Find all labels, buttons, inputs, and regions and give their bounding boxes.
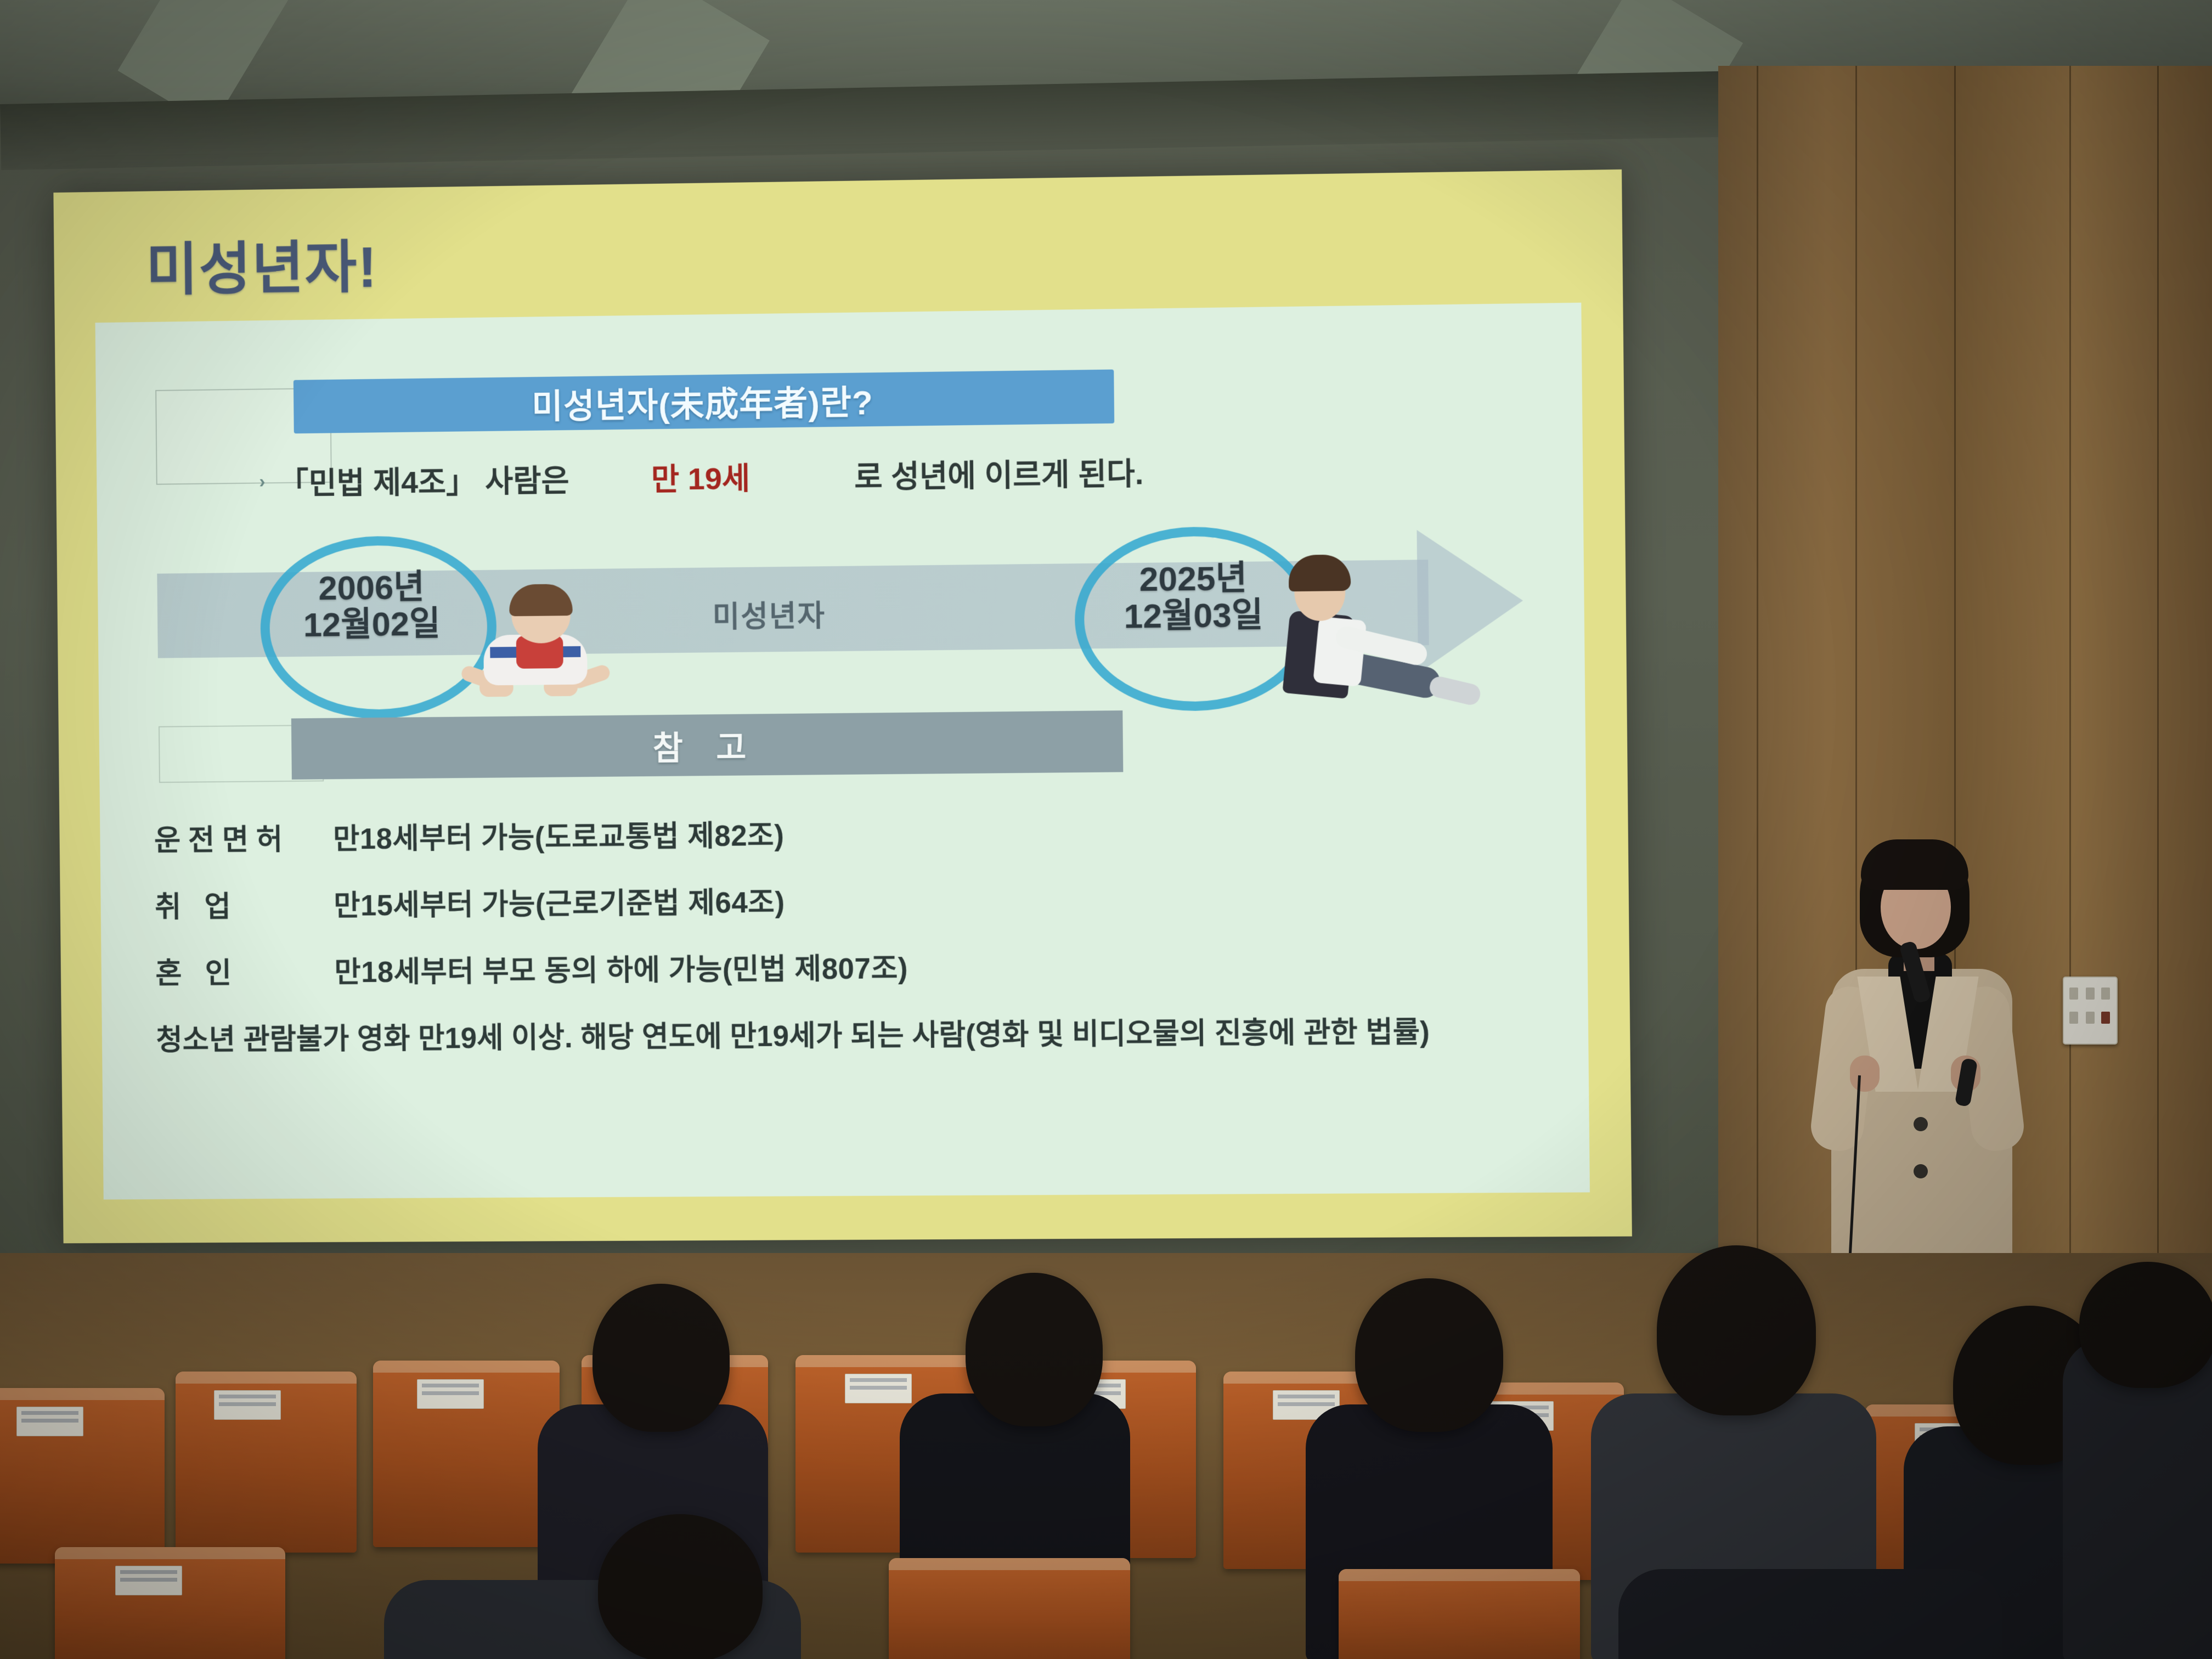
timeline-arrow-label: 미성년자: [712, 591, 826, 636]
bullet-icon: ›: [259, 471, 266, 492]
reference-row-key: 혼 인: [155, 950, 335, 992]
reference-row-value: 만18세부터 부모 동의 하에 가능(민법 제807조): [334, 940, 1560, 991]
reference-row-key: 운전면허: [154, 816, 334, 859]
seat: [373, 1361, 560, 1547]
reference-row: 취 업 만15세부터 가능(근로기준법 제64조): [155, 873, 1560, 926]
reference-list: 운전면허 만18세부터 가능(도로교통법 제82조) 취 업 만15세부터 가능…: [154, 806, 1561, 1059]
student-head: [1355, 1278, 1503, 1432]
slide-header-bar: 미성년자(未成年者)란?: [294, 369, 1114, 433]
student-body-front: [1618, 1569, 2002, 1659]
minor-age-timeline: 미성년자 2006년 12월02일 2025년: [157, 518, 1541, 698]
presenter-hand-left: [1850, 1056, 1880, 1092]
reference-row: 운전면허 만18세부터 가능(도로교통법 제82조): [154, 806, 1559, 860]
reference-row-value: 만18세부터 가능(도로교통법 제82조): [333, 806, 1559, 858]
reference-row-value: 만15세부터 가능(근로기준법 제64조): [334, 873, 1559, 924]
seat: [0, 1388, 165, 1564]
seat: [55, 1547, 285, 1659]
student-head: [2079, 1262, 2212, 1388]
coat-button: [1914, 1164, 1928, 1178]
seat: [176, 1372, 357, 1553]
baby-photo: [450, 586, 620, 706]
law-statement-line: › 「민법 제4조」 사람은 만 19세 로 성년에 이르게 된다.: [259, 441, 1544, 506]
timeline-start-year: 2006년: [260, 569, 483, 608]
student-head: [1657, 1245, 1816, 1415]
lecture-hall-photo: 미성년자! 미성년자(未成年者)란? › 「민법 제4조」 사람은 만 19세 …: [0, 0, 2212, 1659]
law-prefix: 「민법 제4조」 사람은: [278, 455, 569, 503]
law-highlight-age: 만 19세: [651, 453, 750, 499]
law-suffix: 로 성년에 이르게 된다.: [854, 449, 1144, 496]
reference-row: 혼 인 만18세부터 부모 동의 하에 가능(민법 제807조): [155, 940, 1560, 992]
student-head: [966, 1273, 1103, 1426]
light-switch-panel[interactable]: [2063, 977, 2118, 1045]
reference-full-line: 청소년 관람불가 영화 만19세 이상. 해당 연도에 만19세가 되는 사람(…: [156, 1008, 1561, 1058]
slide-title: 미성년자!: [145, 221, 378, 306]
student-head-front: [598, 1514, 763, 1659]
teenager-photo: [1262, 550, 1485, 718]
reference-header-bar: 참 고: [291, 710, 1124, 780]
student-head: [592, 1284, 730, 1432]
coat-button: [1914, 1117, 1928, 1131]
seat: [889, 1558, 1130, 1659]
seat: [1339, 1569, 1580, 1659]
slide-content-panel: 미성년자(未成年者)란? › 「민법 제4조」 사람은 만 19세 로 성년에 …: [95, 303, 1590, 1200]
reference-header-text: 참 고: [652, 721, 758, 770]
presenter-hair-front: [1861, 839, 1968, 890]
reference-row-key: 취 업: [155, 883, 334, 926]
slide-header-text: 미성년자(未成年者)란?: [532, 375, 873, 428]
projected-slide: 미성년자! 미성년자(未成年者)란? › 「민법 제4조」 사람은 만 19세 …: [53, 170, 1632, 1243]
